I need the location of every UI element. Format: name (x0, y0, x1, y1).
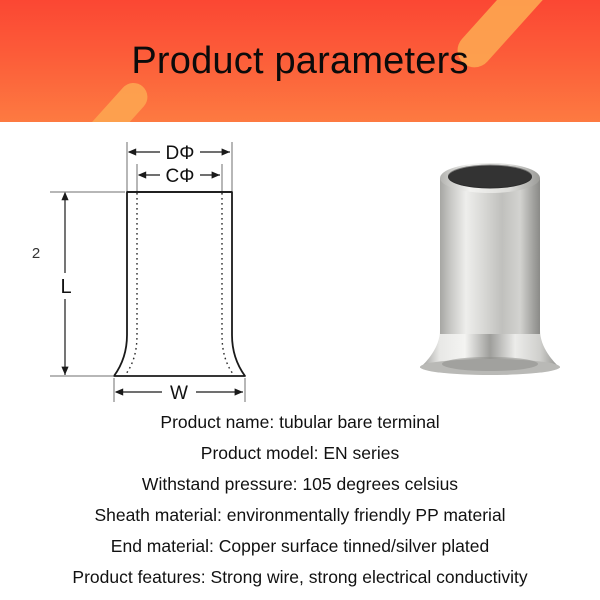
dimension-label-length: L (60, 276, 71, 298)
technical-drawing: DΦ CΦ L (10, 130, 290, 415)
content-area: DΦ CΦ L (0, 122, 600, 600)
spec-line-product-name: Product name: tubular bare terminal (0, 407, 600, 438)
dimension-label-inner-diameter: CΦ (166, 166, 195, 187)
spec-line-withstand-pressure: Withstand pressure: 105 degrees celsius (0, 469, 600, 500)
specification-list: Product name: tubular bare terminal Prod… (0, 407, 600, 593)
product-parameters-page: Product parameters (0, 0, 600, 600)
page-title: Product parameters (0, 0, 600, 122)
terminal-barrel (440, 178, 540, 334)
terminal-opening-inner (448, 165, 532, 188)
spec-line-product-features: Product features: Strong wire, strong el… (0, 562, 600, 593)
spec-line-end-material: End material: Copper surface tinned/silv… (0, 531, 600, 562)
header-banner: Product parameters (0, 0, 600, 122)
product-photo (410, 152, 570, 412)
terminal-body-outline (114, 192, 245, 376)
spec-line-sheath-material: Sheath material: environmentally friendl… (0, 500, 600, 531)
dimension-label-width: W (170, 383, 188, 404)
diagram-caption-number: 2 (32, 245, 40, 262)
skirt-inner-shadow (442, 357, 538, 371)
dimension-label-outer-diameter: DΦ (166, 143, 195, 164)
spec-line-product-model: Product model: EN series (0, 438, 600, 469)
